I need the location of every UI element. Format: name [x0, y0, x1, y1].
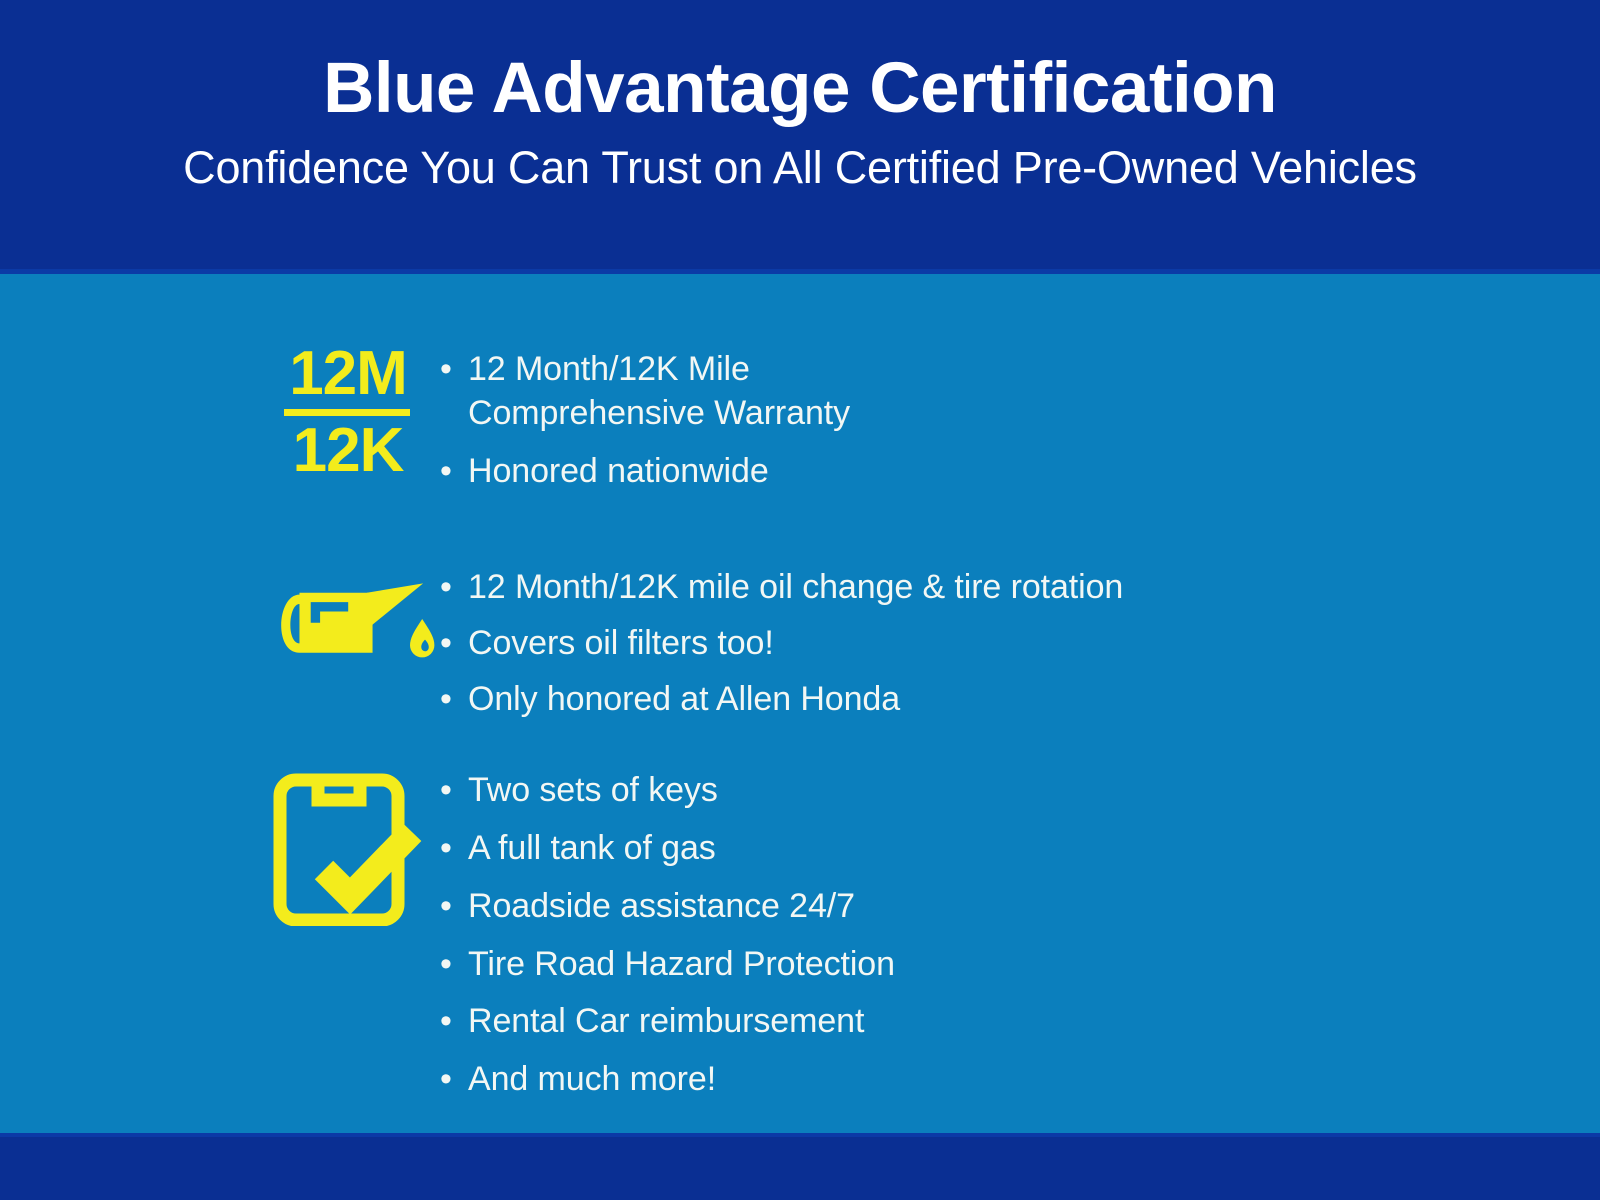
list-item-label: Tire Road Hazard Protection [468, 943, 895, 987]
fraction-denominator: 12K [284, 422, 412, 481]
list-item-label: Honored nationwide [468, 450, 769, 494]
page-title: Blue Advantage Certification [323, 52, 1277, 127]
fraction-bar [284, 409, 410, 416]
list-item-label: And much more! [468, 1058, 716, 1102]
list-item-label: Two sets of keys [468, 769, 718, 813]
list-item: • Tire Road Hazard Protection [440, 943, 895, 987]
list-item: • Covers oil filters too! [440, 622, 1123, 666]
fraction-numerator: 12M [284, 345, 412, 404]
bullet-dot-icon: • [440, 450, 468, 494]
bullet-list-warranty: • 12 Month/12K Mile Comprehensive Warran… [440, 345, 850, 494]
bullet-dot-icon: • [440, 1058, 468, 1102]
list-item-label: 12 Month/12K mile oil change & tire rota… [468, 566, 1123, 610]
feature-icon-slot [262, 563, 440, 675]
bullet-dot-icon: • [440, 827, 468, 871]
clipboard-check-icon [262, 766, 432, 926]
bullet-dot-icon: • [440, 885, 468, 929]
list-item-label: Only honored at Allen Honda [468, 678, 900, 722]
list-item-label: Rental Car reimbursement [468, 1000, 864, 1044]
oil-can-icon [262, 563, 440, 675]
list-item: • Honored nationwide [440, 450, 850, 494]
feature-icon-slot: 12M 12K [262, 345, 440, 481]
feature-row-warranty: 12M 12K • 12 Month/12K Mile Comprehensiv… [262, 345, 850, 494]
header-band: Blue Advantage Certification Confidence … [0, 0, 1600, 273]
list-item-label: 12 Month/12K Mile Comprehensive Warranty [468, 348, 850, 436]
bullet-dot-icon: • [440, 678, 468, 722]
bullet-dot-icon: • [440, 769, 468, 813]
twelve-month-twelve-k-fraction-icon: 12M 12K [262, 345, 412, 481]
list-item-label: Roadside assistance 24/7 [468, 885, 855, 929]
bullet-dot-icon: • [440, 1000, 468, 1044]
bullet-list-service: • 12 Month/12K mile oil change & tire ro… [440, 563, 1123, 734]
list-item: • Only honored at Allen Honda [440, 678, 1123, 722]
list-item: • Two sets of keys [440, 769, 895, 813]
list-item: • And much more! [440, 1058, 895, 1102]
list-item: • A full tank of gas [440, 827, 895, 871]
feature-list: 12M 12K • 12 Month/12K Mile Comprehensiv… [0, 273, 1600, 1137]
list-item: • 12 Month/12K mile oil change & tire ro… [440, 566, 1123, 610]
bullet-dot-icon: • [440, 622, 468, 666]
feature-icon-slot [262, 766, 440, 926]
feature-row-extras: • Two sets of keys • A full tank of gas … [262, 766, 895, 1116]
list-item-label: Covers oil filters too! [468, 622, 774, 666]
list-item-label: A full tank of gas [468, 827, 716, 871]
bullet-dot-icon: • [440, 566, 468, 610]
feature-row-service: • 12 Month/12K mile oil change & tire ro… [262, 563, 1123, 734]
list-item: • Roadside assistance 24/7 [440, 885, 895, 929]
blue-advantage-certification-poster: Blue Advantage Certification Confidence … [0, 0, 1600, 1200]
page-subtitle: Confidence You Can Trust on All Certifie… [183, 143, 1417, 193]
list-item: • 12 Month/12K Mile Comprehensive Warran… [440, 348, 850, 436]
list-item: • Rental Car reimbursement [440, 1000, 895, 1044]
bullet-dot-icon: • [440, 348, 468, 392]
footer-band [0, 1137, 1600, 1200]
bullet-list-extras: • Two sets of keys • A full tank of gas … [440, 766, 895, 1116]
bullet-dot-icon: • [440, 943, 468, 987]
